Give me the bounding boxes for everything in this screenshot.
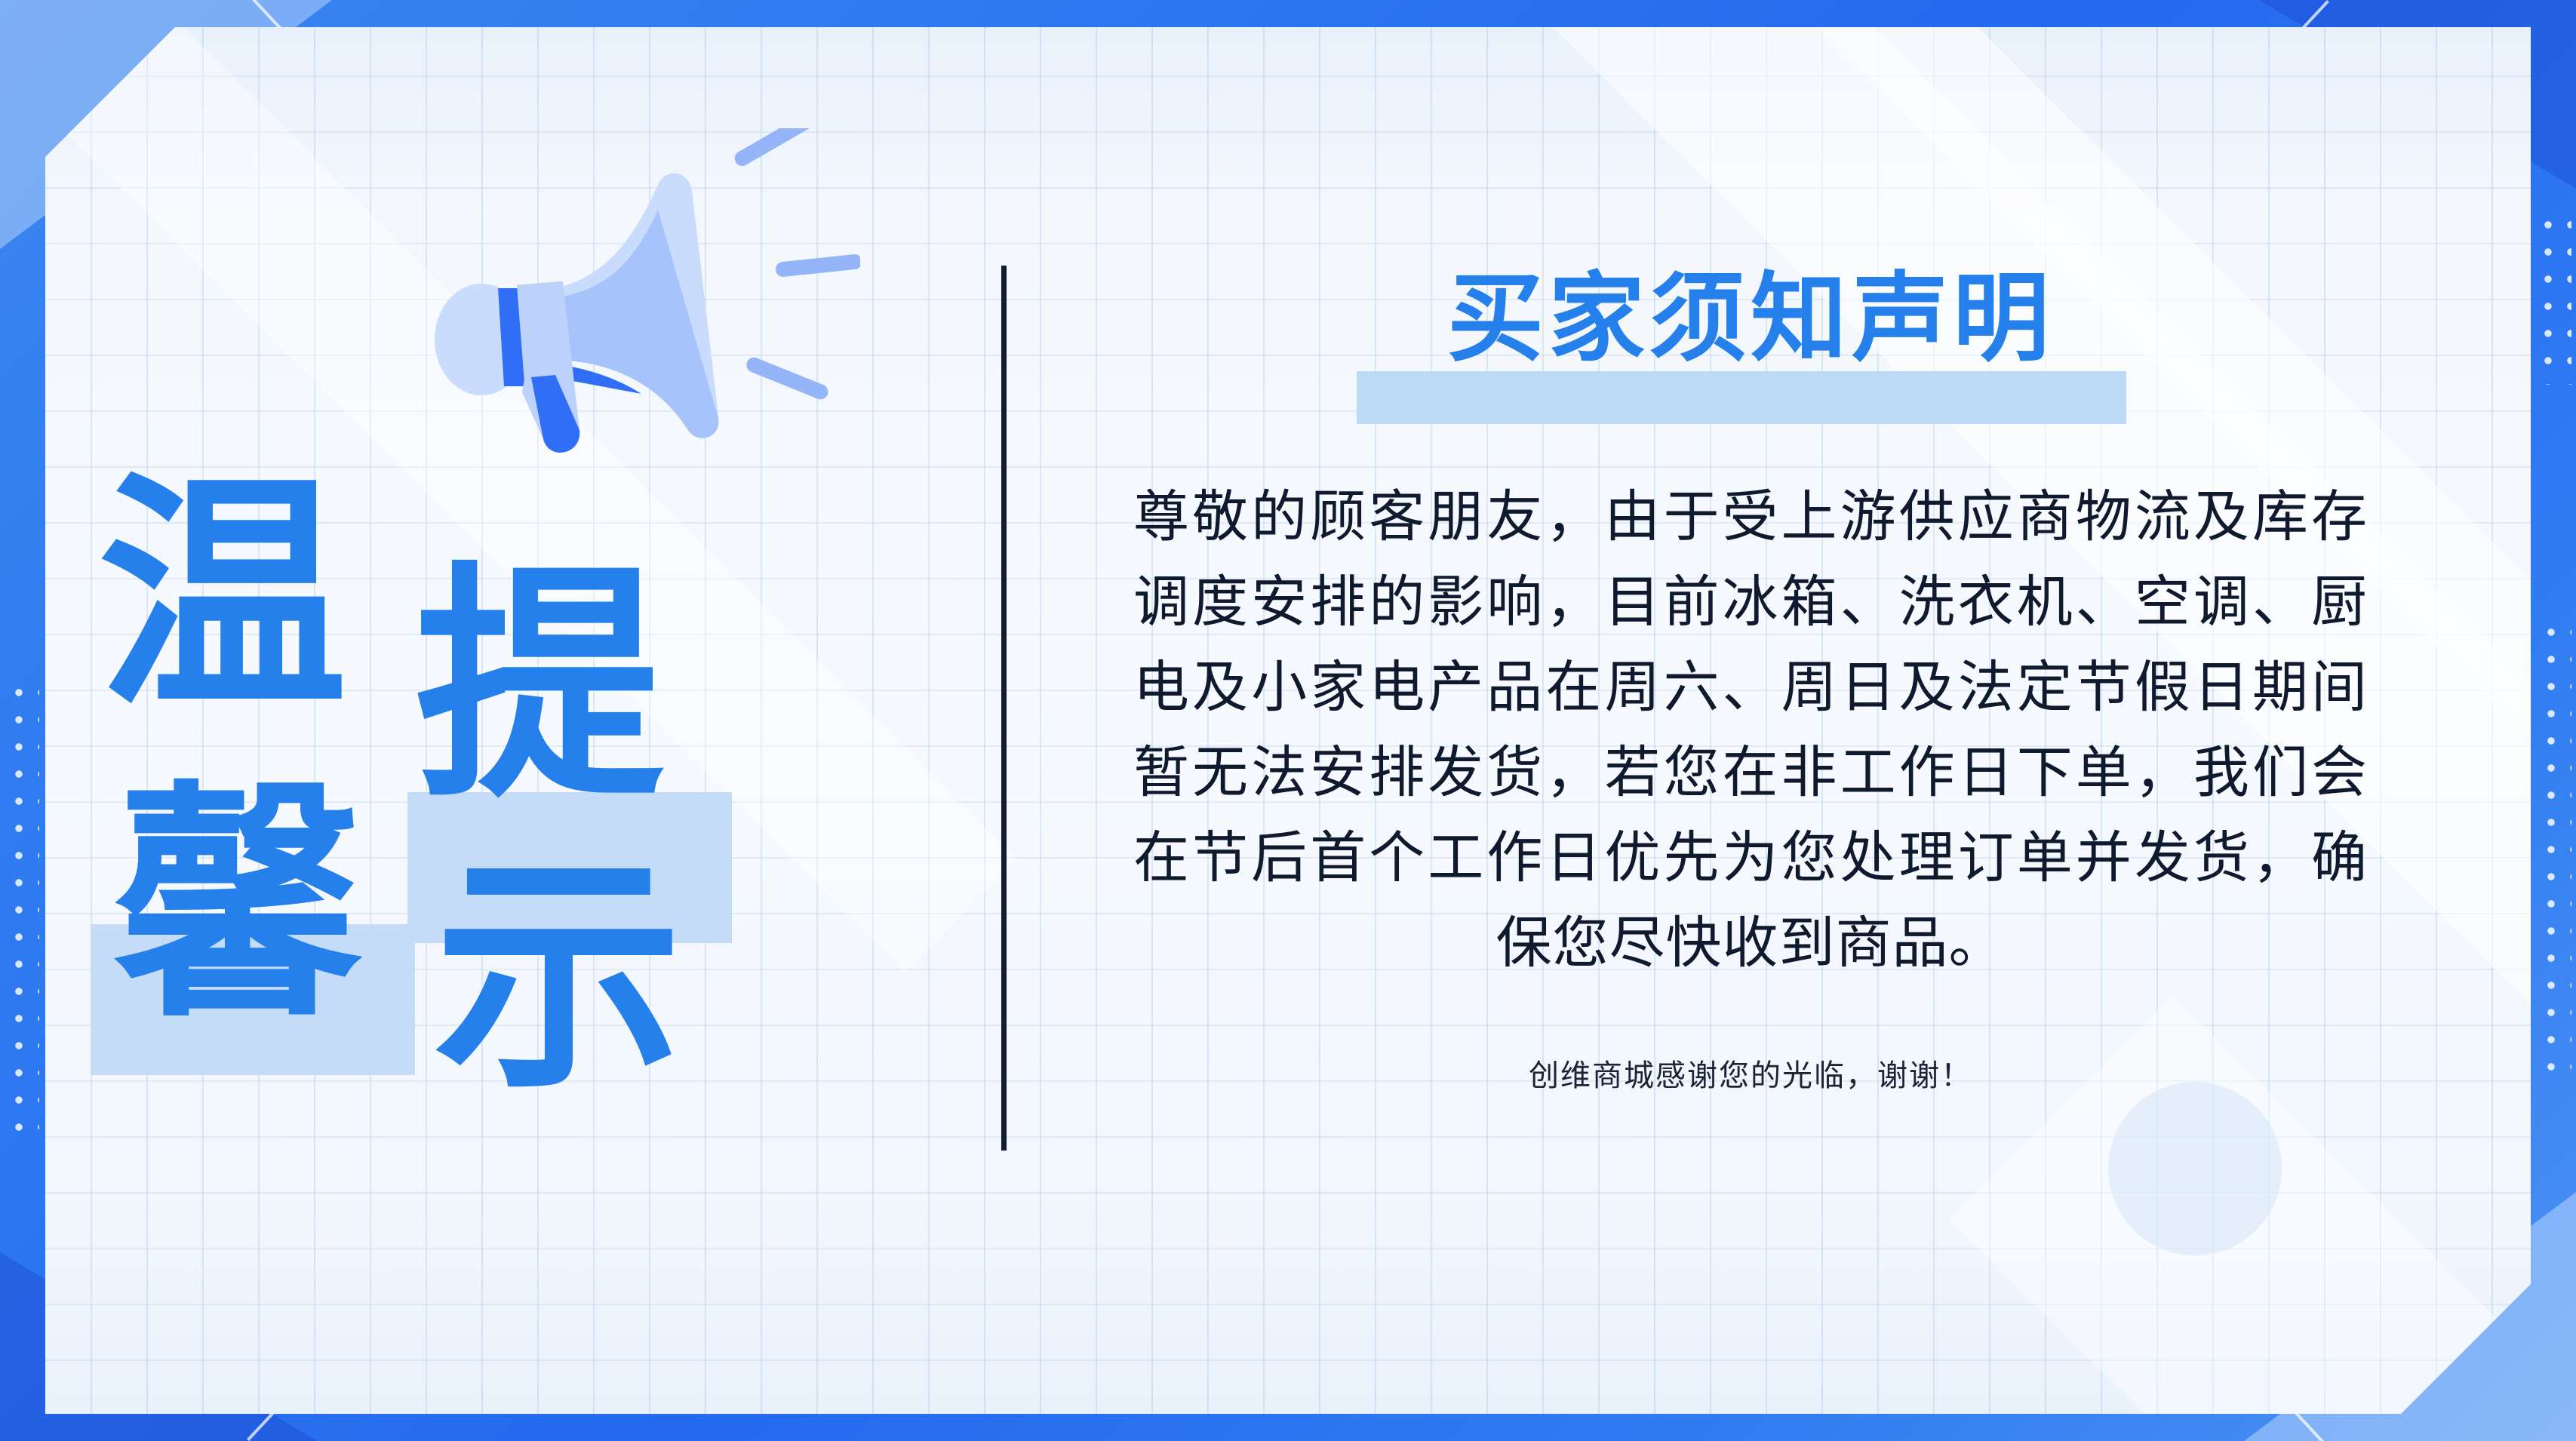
heading-highlight-bar — [1357, 371, 2126, 424]
dot-pattern-left — [5, 679, 39, 1132]
title-char-xin: 馨 — [113, 781, 362, 1030]
footer-thanks-text: 创维商城感谢您的光临，谢谢！ — [1117, 1055, 2384, 1097]
title-char-wen: 温 — [98, 472, 347, 720]
megaphone-icon — [392, 128, 860, 475]
left-title-block: 温 提 馨 示 — [91, 441, 830, 1090]
title-char-ti: 提 — [415, 562, 664, 811]
title-char-shi: 示 — [434, 853, 683, 1101]
vertical-divider — [1001, 266, 1007, 1151]
dot-pattern-right — [2537, 619, 2571, 1071]
poster-canvas: 温 提 馨 示 买家须知声明 尊敬的顾客朋友，由于受上游供应商物流及库存调度安排… — [0, 0, 2576, 1441]
right-content-column: 买家须知声明 尊敬的顾客朋友，由于受上游供应商物流及库存调度安排的影响，目前冰箱… — [1117, 226, 2384, 1097]
notice-body-text: 尊敬的顾客朋友，由于受上游供应商物流及库存调度安排的影响，目前冰箱、洗衣机、空调… — [1133, 474, 2368, 985]
dot-pattern-top-right — [2537, 211, 2571, 385]
heading-wrapper: 买家须知声明 — [1117, 226, 2384, 400]
page-title: 买家须知声明 — [1447, 263, 2054, 376]
